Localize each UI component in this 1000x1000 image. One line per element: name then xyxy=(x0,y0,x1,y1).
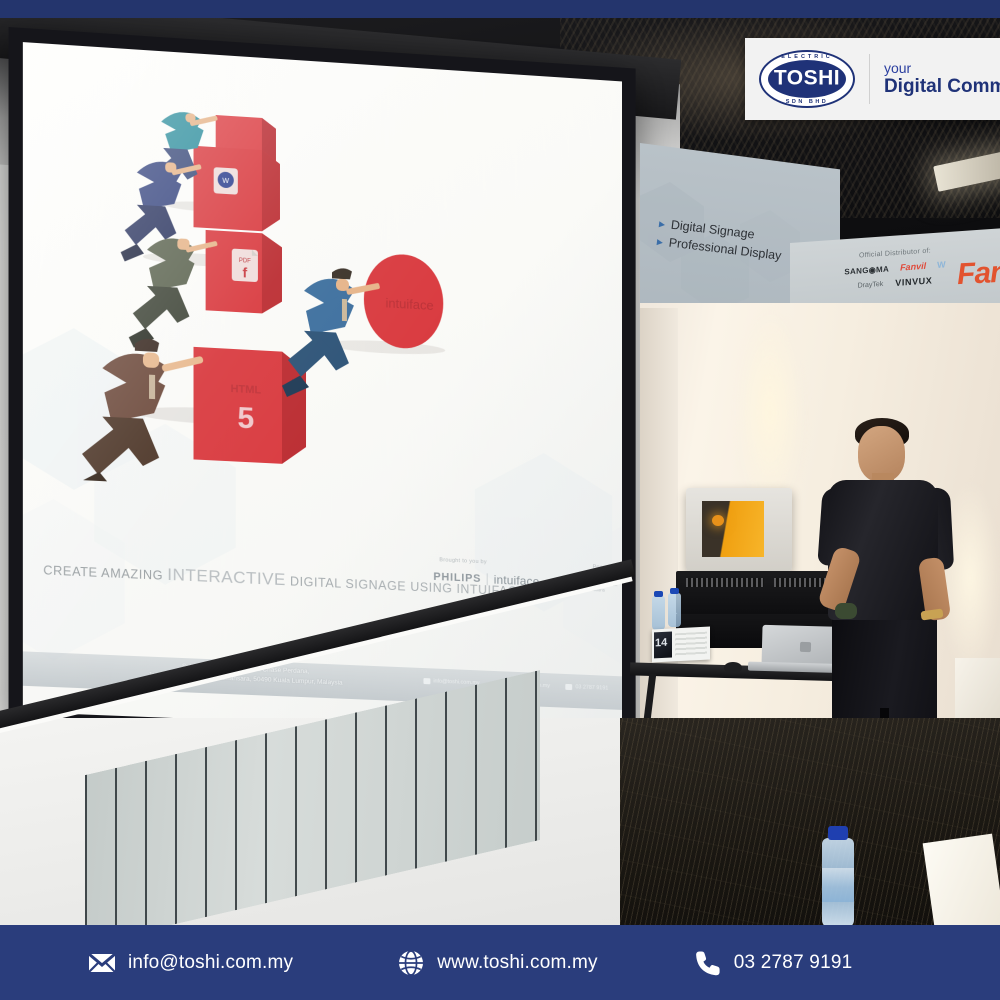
svg-text:HTML: HTML xyxy=(231,383,262,397)
table-bottle-2 xyxy=(668,593,681,627)
side-shelf xyxy=(955,658,1000,720)
figure-pusher-5 xyxy=(282,265,380,402)
foreground-table xyxy=(923,834,1000,925)
top-navy-strip xyxy=(0,0,1000,18)
desk-placard: 14 xyxy=(652,626,710,662)
brought-to-you-by-label: Brought to you by xyxy=(439,557,487,565)
arrow-icon: ► xyxy=(654,237,665,249)
banner-tagline: your Digital Comm xyxy=(884,60,1000,98)
tagline-part1: CREATE AMAZING xyxy=(43,563,167,583)
envelope-icon xyxy=(88,949,116,977)
logo-divider xyxy=(487,573,488,585)
slide-contact-phone: 03 2787 9191 xyxy=(566,683,609,691)
footer-website-item[interactable]: www.toshi.com.my xyxy=(397,949,598,977)
presentation-slide: W PDF f xyxy=(23,42,622,736)
svg-text:5: 5 xyxy=(237,402,254,436)
block-pdf: PDF f xyxy=(206,230,282,315)
banner-tagline-line-2: Digital Comm xyxy=(884,76,1000,98)
fanvil-feature-logo: Fanvil xyxy=(956,254,1000,292)
svg-text:W: W xyxy=(222,178,229,185)
block-html5: HTML 5 xyxy=(194,347,307,465)
sangoma-logo: SANG◉MA xyxy=(844,264,889,276)
bottle-cap xyxy=(670,588,679,594)
bottle-cap xyxy=(654,591,663,597)
wall-light-glow-left xyxy=(735,308,805,518)
banner-divider xyxy=(869,54,870,104)
contact-footer-bar: info@toshi.com.my www.toshi.com.my 03 27… xyxy=(0,925,1000,1000)
block-intuiface-disc: intuiface xyxy=(364,252,443,350)
svg-text:intuiface: intuiface xyxy=(386,295,434,313)
projector-window xyxy=(702,501,764,557)
fanvil-logo: Fanvil xyxy=(900,261,926,273)
slide-contact-email: info@toshi.com.my xyxy=(423,678,479,686)
footer-website-text: www.toshi.com.my xyxy=(437,952,598,974)
footer-email-item[interactable]: info@toshi.com.my xyxy=(88,949,293,977)
table-bottle-1 xyxy=(652,596,665,630)
slide-illustration: W PDF f xyxy=(64,75,544,502)
projection-screen: W PDF f xyxy=(23,42,622,736)
philips-logo: PHILIPS xyxy=(433,571,481,585)
placard-number: 14 xyxy=(655,637,667,650)
photo-scene: W PDF f xyxy=(0,18,1000,925)
screenshot-root: W PDF f xyxy=(0,0,1000,1000)
placard-text-lines xyxy=(675,632,707,658)
envelope-icon xyxy=(423,678,430,684)
arrow-icon: ► xyxy=(656,219,667,231)
foreground-water-bottle xyxy=(822,838,854,925)
footer-phone-text: 03 2787 9191 xyxy=(734,952,853,974)
projector-lamp-dot xyxy=(712,515,724,526)
phone-icon xyxy=(566,683,573,689)
w-brand-logo: W xyxy=(937,259,946,270)
presentation-clicker xyxy=(835,603,857,619)
svg-text:f: f xyxy=(243,264,248,280)
footer-email-text: info@toshi.com.my xyxy=(128,952,293,974)
slide-phone-text: 03 2787 9191 xyxy=(575,684,608,691)
tagline-part2: INTERACTIVE xyxy=(167,565,286,589)
logo-arc-bottom-label: SDN BHD xyxy=(759,99,855,105)
rack-vent-left xyxy=(686,578,764,587)
toshi-header-banner: ELECTRIC TOSHI SDN BHD your Digital Comm xyxy=(745,38,1000,120)
logo-name: TOSHI xyxy=(759,67,855,91)
bottle-cap xyxy=(828,826,848,840)
phone-icon xyxy=(694,949,722,977)
footer-phone-item[interactable]: 03 2787 9191 xyxy=(694,949,853,977)
banner-tagline-line-1: your xyxy=(884,60,1000,76)
globe-icon xyxy=(397,949,425,977)
draytek-logo: DrayTek xyxy=(858,280,884,289)
laptop-logo xyxy=(800,642,811,652)
toshi-logo-icon: ELECTRIC TOSHI SDN BHD xyxy=(759,50,855,108)
block-flash: W xyxy=(194,146,280,233)
bottle-label xyxy=(822,868,854,902)
computer-mouse[interactable] xyxy=(724,662,742,673)
